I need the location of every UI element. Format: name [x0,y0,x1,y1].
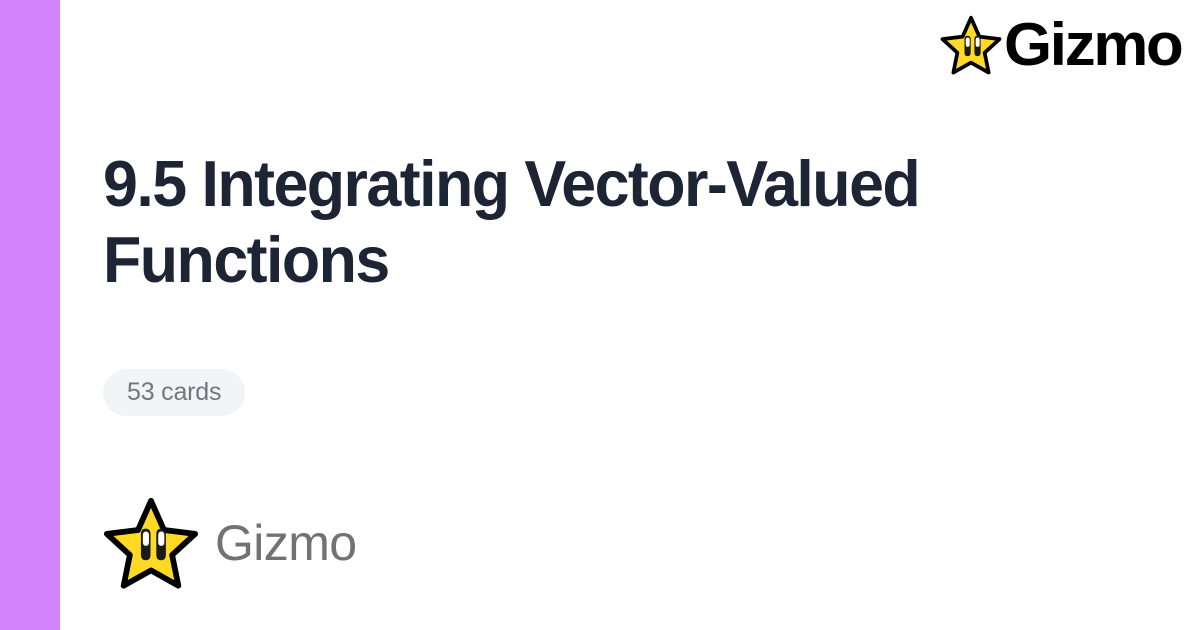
gizmo-star-icon [103,495,199,591]
share-card: Gizmo 9.5 Integrating Vector-Valued Func… [0,0,1200,630]
deck-title: 9.5 Integrating Vector-Valued Functions [103,146,933,298]
card-count-badge: 53 cards [103,369,245,416]
brand-lockup-bottom[interactable]: Gizmo [103,495,356,591]
brand-wordmark-bottom: Gizmo [215,518,356,568]
accent-stripe [0,0,60,630]
content-column: 9.5 Integrating Vector-Valued Functions … [103,0,1103,630]
